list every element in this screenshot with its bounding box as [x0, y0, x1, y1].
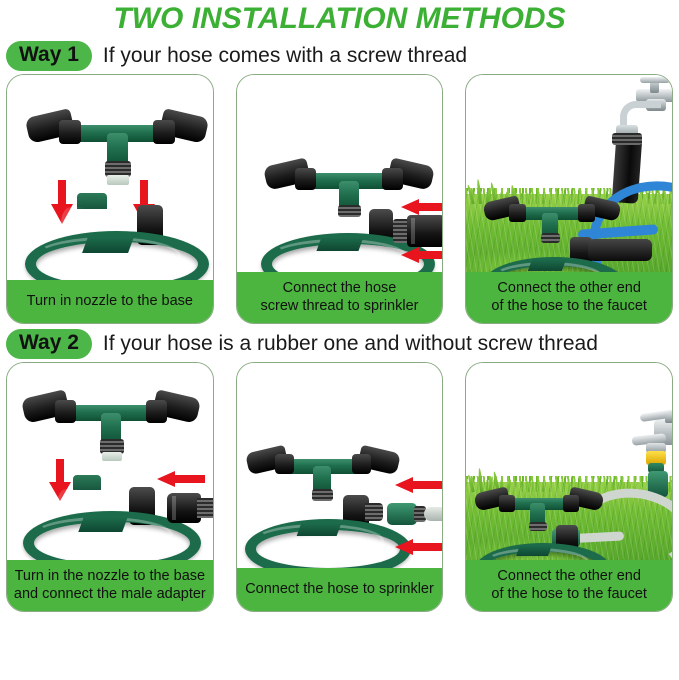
- way-badge-1: Way 1: [6, 41, 92, 71]
- step-illustration-2-2: [237, 363, 443, 568]
- arrow-left-bottom: [401, 247, 443, 263]
- quick-connector: [387, 501, 443, 527]
- panel-row-way-1: Turn in nozzle to the base: [0, 74, 679, 324]
- step-illustration-1-3: [466, 75, 672, 272]
- arrow-left-upper: [395, 477, 443, 493]
- step-panel-1-2: Connect the hose screw thread to sprinkl…: [236, 74, 444, 324]
- step-illustration-1-2: [237, 75, 443, 272]
- step-panel-2-1: Turn in the nozzle to the base and conne…: [6, 362, 214, 612]
- step-panel-1-3: Connect the other end of the hose to the…: [465, 74, 673, 324]
- step-caption-1-1: Turn in nozzle to the base: [7, 280, 213, 323]
- step-panel-2-2: Connect the hose to sprinkler: [236, 362, 444, 612]
- step-caption-2-3: Connect the other end of the hose to the…: [466, 560, 672, 611]
- way-badge-2: Way 2: [6, 329, 92, 359]
- arrow-left-top: [401, 199, 443, 215]
- arrow-left-lower: [395, 539, 443, 555]
- way-heading-text-2: If your hose is a rubber one and without…: [103, 331, 598, 357]
- step-caption-2-2: Connect the hose to sprinkler: [237, 568, 443, 611]
- male-adapter: [167, 493, 213, 523]
- infographic-page: TWO INSTALLATION METHODS Way 1 If your h…: [0, 0, 679, 680]
- way-heading-text-1: If your hose comes with a screw thread: [103, 43, 467, 69]
- step-panel-1-1: Turn in nozzle to the base: [6, 74, 214, 324]
- step-illustration-2-1: [7, 363, 213, 560]
- page-title: TWO INSTALLATION METHODS: [0, 0, 679, 36]
- step-caption-1-3: Connect the other end of the hose to the…: [466, 272, 672, 323]
- step-panel-2-3: Connect the other end of the hose to the…: [465, 362, 673, 612]
- method-heading-way-1: Way 1 If your hose comes with a screw th…: [0, 38, 679, 74]
- panel-row-way-2: Turn in the nozzle to the base and conne…: [0, 362, 679, 612]
- step-caption-2-1: Turn in the nozzle to the base and conne…: [7, 560, 213, 611]
- step-caption-1-2: Connect the hose screw thread to sprinkl…: [237, 272, 443, 323]
- method-heading-way-2: Way 2 If your hose is a rubber one and w…: [0, 326, 679, 362]
- step-illustration-1-1: [7, 75, 213, 280]
- step-illustration-2-3: [466, 363, 672, 560]
- faucet-icon: [626, 409, 672, 475]
